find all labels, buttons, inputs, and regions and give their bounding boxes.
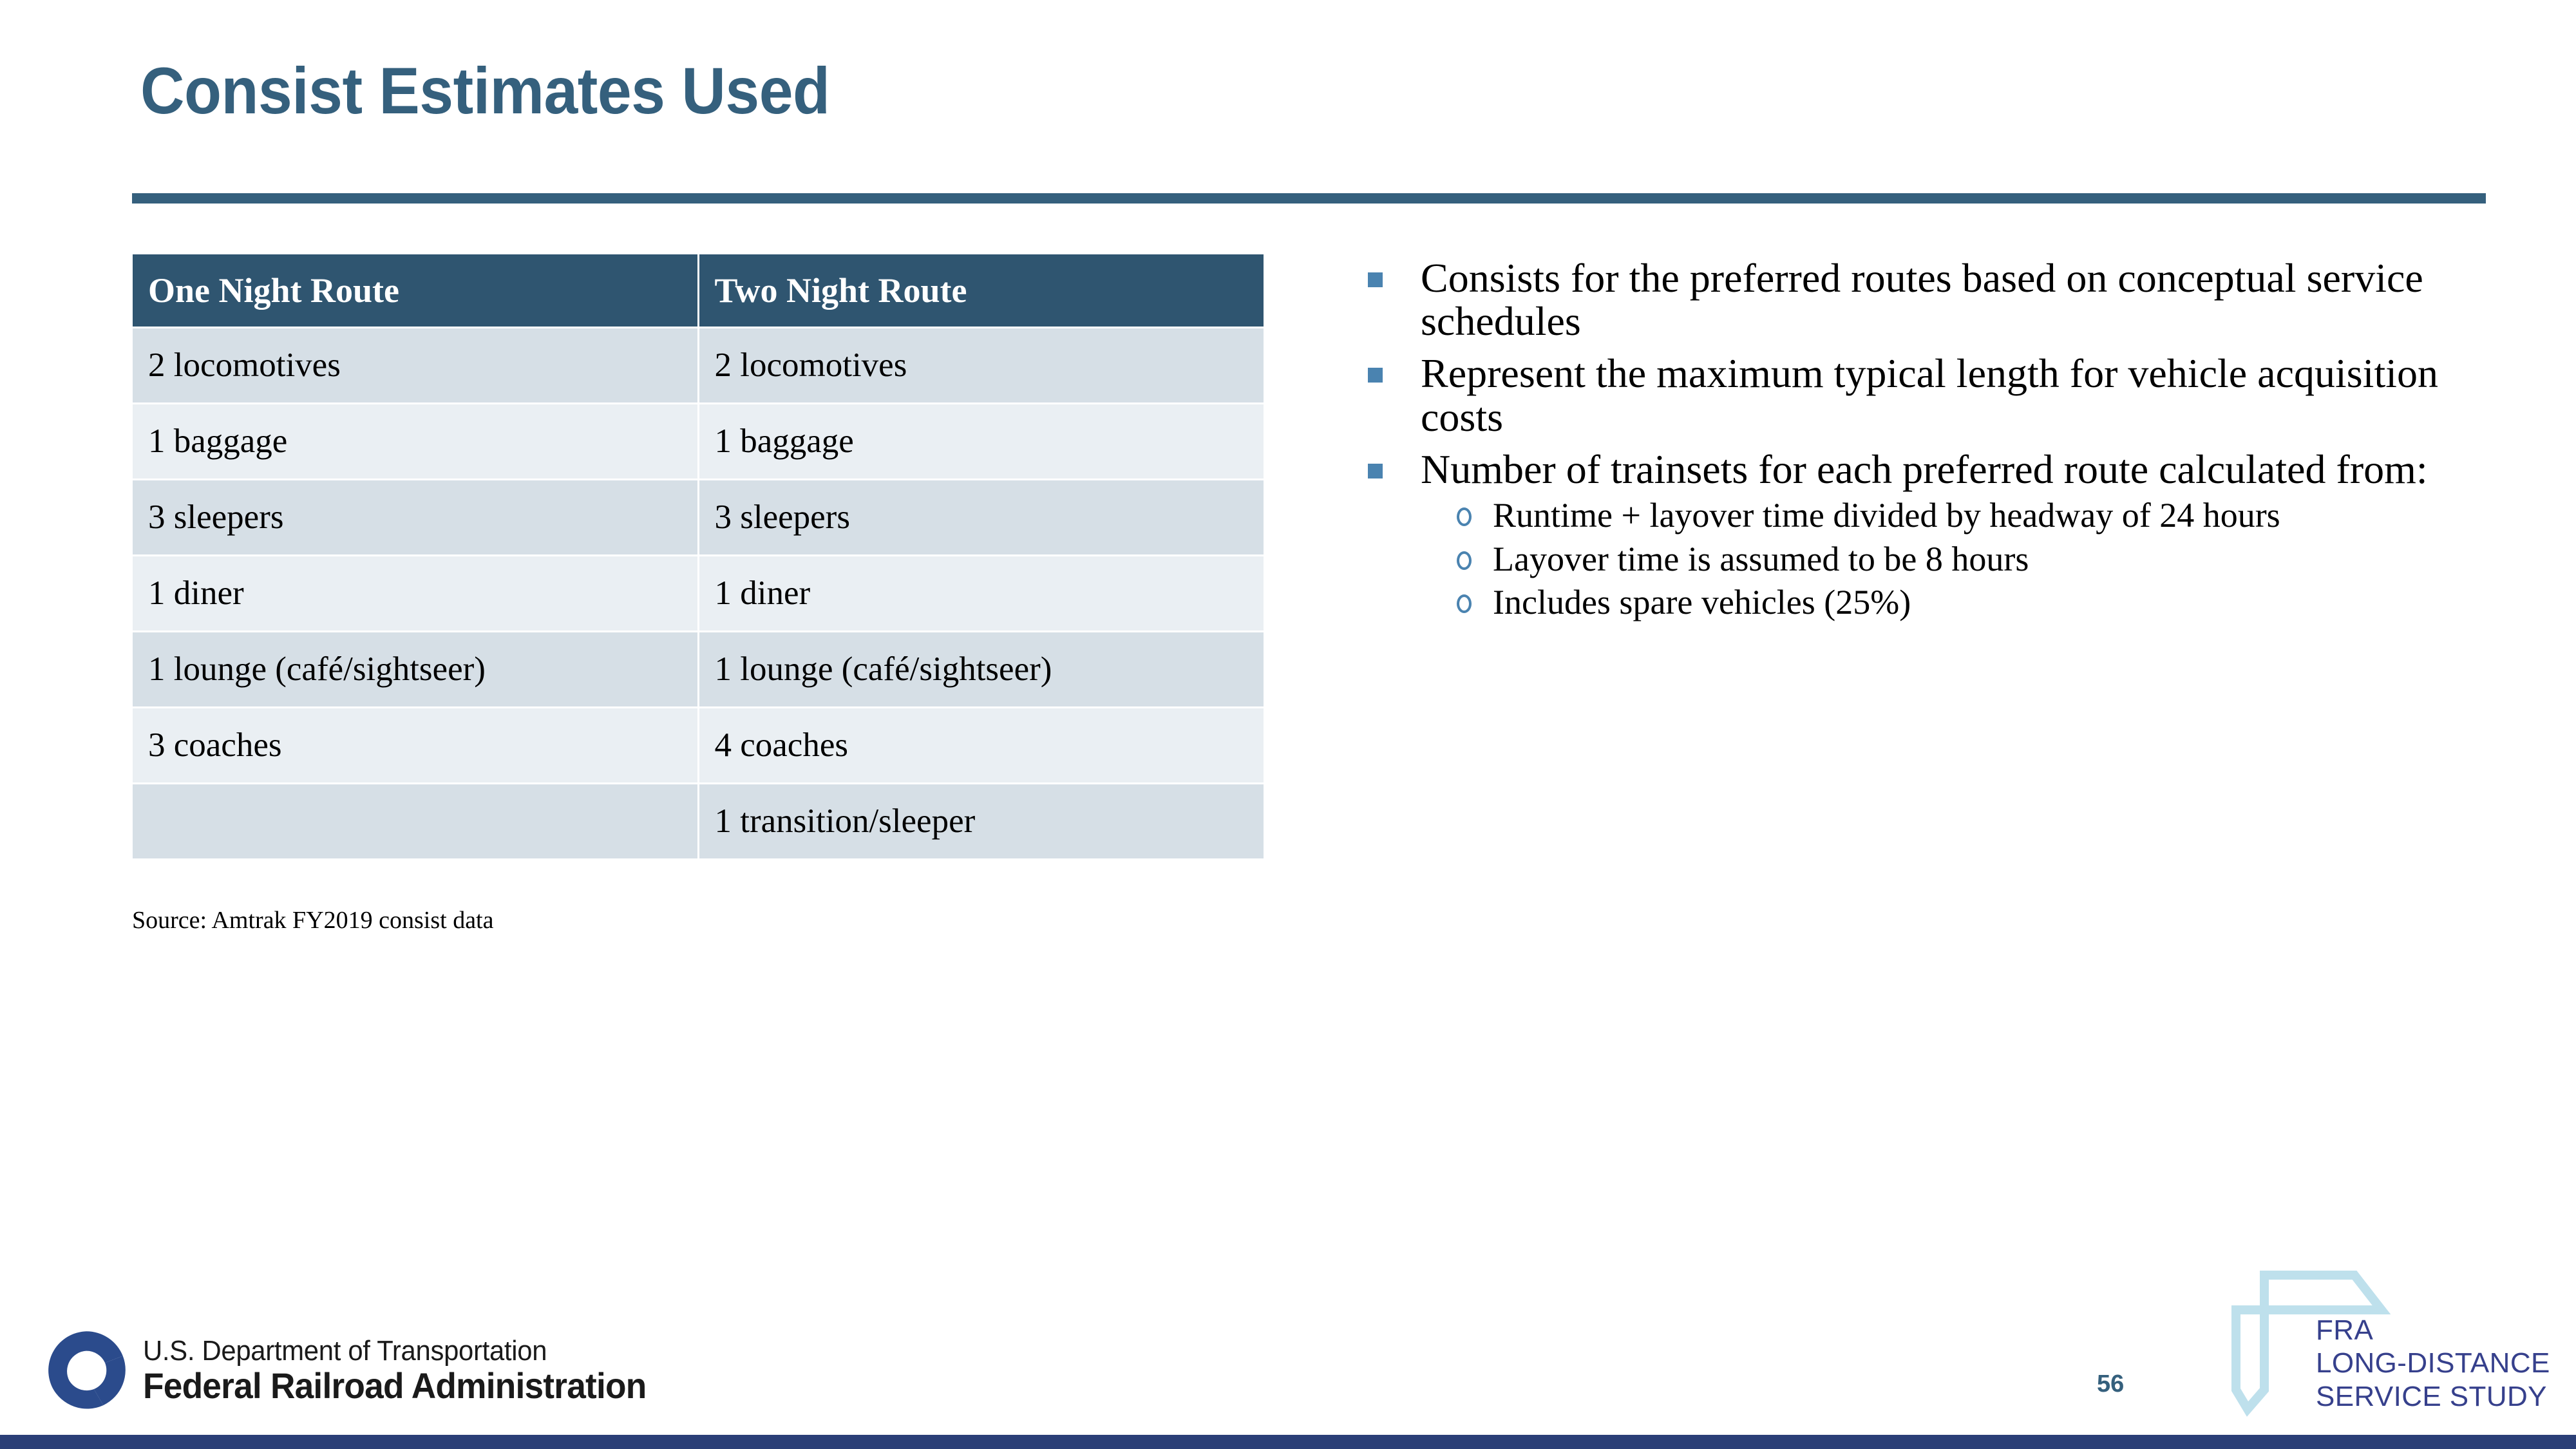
cell-two-night: 4 coaches xyxy=(699,708,1264,782)
table-header-row: One Night Route Two Night Route xyxy=(133,254,1264,327)
bullet-text: Represent the maximum typical length for… xyxy=(1421,350,2438,439)
page-title: Consist Estimates Used xyxy=(140,57,829,126)
fra-line-2: LONG-DISTANCE xyxy=(2316,1347,2550,1379)
sub-bullet-item: Runtime + layover time divided by headwa… xyxy=(1421,497,2479,535)
dot-agency-line: Federal Railroad Administration xyxy=(143,1367,646,1405)
cell-one-night: 2 locomotives xyxy=(133,328,697,402)
dot-logo-text: U.S. Department of Transportation Federa… xyxy=(143,1336,673,1405)
square-bullet-icon xyxy=(1368,272,1383,287)
table-row: 1 diner 1 diner xyxy=(133,556,1264,630)
footer-accent-bar xyxy=(0,1435,2576,1449)
cell-two-night: 1 diner xyxy=(699,556,1264,630)
table-row: 1 lounge (café/sightseer) 1 lounge (café… xyxy=(133,632,1264,706)
bullet-item: Represent the maximum typical length for… xyxy=(1359,352,2479,438)
table-header-one-night-route: One Night Route xyxy=(133,254,697,327)
table-row: 1 baggage 1 baggage xyxy=(133,404,1264,478)
cell-two-night: 1 baggage xyxy=(699,404,1264,478)
bullet-item: Consists for the preferred routes based … xyxy=(1359,256,2479,343)
cell-one-night: 1 baggage xyxy=(133,404,697,478)
table-row: 3 coaches 4 coaches xyxy=(133,708,1264,782)
dot-department-line: U.S. Department of Transportation xyxy=(143,1336,646,1367)
bullet-item: Number of trainsets for each preferred r… xyxy=(1359,448,2479,621)
cell-two-night: 1 lounge (café/sightseer) xyxy=(699,632,1264,706)
cell-two-night: 2 locomotives xyxy=(699,328,1264,402)
fra-study-logo: FRA LONG-DISTANCE SERVICE STUDY xyxy=(2222,1264,2557,1425)
cell-two-night: 3 sleepers xyxy=(699,480,1264,554)
cell-two-night: 1 transition/sleeper xyxy=(699,784,1264,858)
consist-estimates-table: One Night Route Two Night Route 2 locomo… xyxy=(131,252,1265,860)
square-bullet-icon xyxy=(1368,368,1383,383)
bullet-text: Number of trainsets for each preferred r… xyxy=(1421,446,2428,492)
title-divider xyxy=(132,193,2486,204)
fra-line-1: FRA xyxy=(2316,1314,2550,1347)
bullet-text: Consists for the preferred routes based … xyxy=(1421,255,2423,344)
dot-logo: U.S. Department of Transportation Federa… xyxy=(44,1328,673,1413)
cell-one-night: 3 coaches xyxy=(133,708,697,782)
circle-bullet-icon xyxy=(1457,507,1472,526)
sub-bullet-text: Layover time is assumed to be 8 hours xyxy=(1493,540,2029,578)
fra-wordmark-text: FRA LONG-DISTANCE SERVICE STUDY xyxy=(2316,1314,2550,1413)
sub-bullet-item: Includes spare vehicles (25%) xyxy=(1421,584,2479,621)
table-row: 3 sleepers 3 sleepers xyxy=(133,480,1264,554)
circle-bullet-icon xyxy=(1457,551,1472,570)
page-number: 56 xyxy=(2097,1370,2124,1398)
cell-one-night xyxy=(133,784,697,858)
cell-one-night: 1 diner xyxy=(133,556,697,630)
cell-one-night: 1 lounge (café/sightseer) xyxy=(133,632,697,706)
table-row: 1 transition/sleeper xyxy=(133,784,1264,858)
bullet-list: Consists for the preferred routes based … xyxy=(1359,256,2479,630)
dot-triskelion-icon xyxy=(44,1328,129,1413)
fra-line-3: SERVICE STUDY xyxy=(2316,1380,2550,1413)
sub-bullet-item: Layover time is assumed to be 8 hours xyxy=(1421,541,2479,578)
sub-bullet-text: Includes spare vehicles (25%) xyxy=(1493,583,1911,621)
cell-one-night: 3 sleepers xyxy=(133,480,697,554)
circle-bullet-icon xyxy=(1457,594,1472,613)
table-source-note: Source: Amtrak FY2019 consist data xyxy=(132,906,493,934)
square-bullet-icon xyxy=(1368,464,1383,478)
table-header-two-night-route: Two Night Route xyxy=(699,254,1264,327)
sub-bullet-text: Runtime + layover time divided by headwa… xyxy=(1493,496,2280,535)
table-row: 2 locomotives 2 locomotives xyxy=(133,328,1264,402)
sub-bullet-list: Runtime + layover time divided by headwa… xyxy=(1421,497,2479,621)
